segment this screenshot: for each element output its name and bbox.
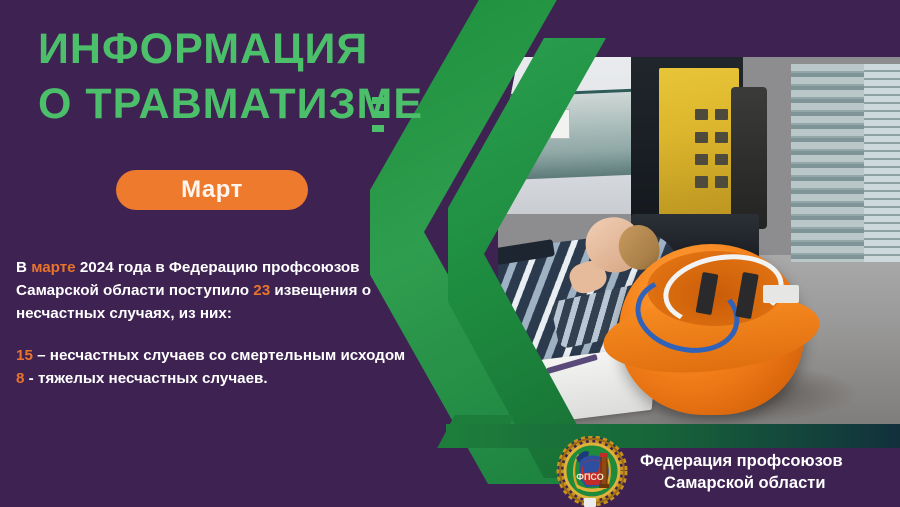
photo-forklift-slot (695, 109, 708, 120)
photo-forklift-slot (715, 109, 728, 120)
photo-forklift-mast (731, 87, 767, 229)
photo-forklift-slot (695, 176, 708, 187)
item-label-fatal: несчастных случаев со смертельным исходо… (50, 347, 405, 364)
statistics-text: В марте 2024 года в Федерацию профсоюзов… (16, 256, 416, 390)
fpso-emblem-logo: ФПСО (556, 436, 628, 507)
title-line-2: О ТРАВМАТИЗМЕ (38, 77, 458, 132)
statistics-item: 8 - тяжелых несчастных случаев. (16, 367, 416, 390)
photo-forklift-slot (715, 176, 728, 187)
month-badge[interactable]: Март (116, 170, 308, 210)
paragraph-pre: В (16, 259, 31, 276)
footer-band (446, 424, 900, 448)
month-badge-label: Март (181, 176, 243, 204)
statistics-item: 15 – несчастных случаев со смертельным и… (16, 344, 416, 367)
photo-forklift-slot (695, 132, 708, 143)
item-label-severe: тяжелых несчастных случаев. (38, 370, 268, 387)
highlight-total-count: 23 (253, 282, 270, 299)
poster-canvas: ИНФОРМАЦИЯ О ТРАВМАТИЗМЕ Март В марте 20… (0, 0, 900, 507)
organization-name: Федерация профсоюзов Самарской области (640, 450, 843, 494)
photo-forklift-slot (695, 154, 708, 165)
item-count-fatal: 15 (16, 347, 33, 364)
highlight-month: марте (31, 259, 75, 276)
photo-forklift-slot (715, 132, 728, 143)
emblem-abbreviation-text: ФПСО (576, 472, 603, 482)
photo-hard-hat-tag (763, 285, 799, 304)
fpso-emblem-icon: ФПСО (556, 436, 628, 507)
organization-line-2: Самарской области (640, 472, 843, 494)
photo-shelf-far-right (864, 64, 900, 262)
title-line-1: ИНФОРМАЦИЯ (38, 25, 368, 73)
item-separator: - (24, 370, 38, 387)
organization-line-1: Федерация профсоюзов (640, 452, 843, 470)
statistics-paragraph: В марте 2024 года в Федерацию профсоюзов… (16, 256, 416, 325)
photo-forklift-slot (715, 154, 728, 165)
item-separator: – (33, 347, 50, 364)
page-title: ИНФОРМАЦИЯ О ТРАВМАТИЗМЕ (38, 22, 458, 132)
photo-forklift-body (659, 68, 739, 225)
